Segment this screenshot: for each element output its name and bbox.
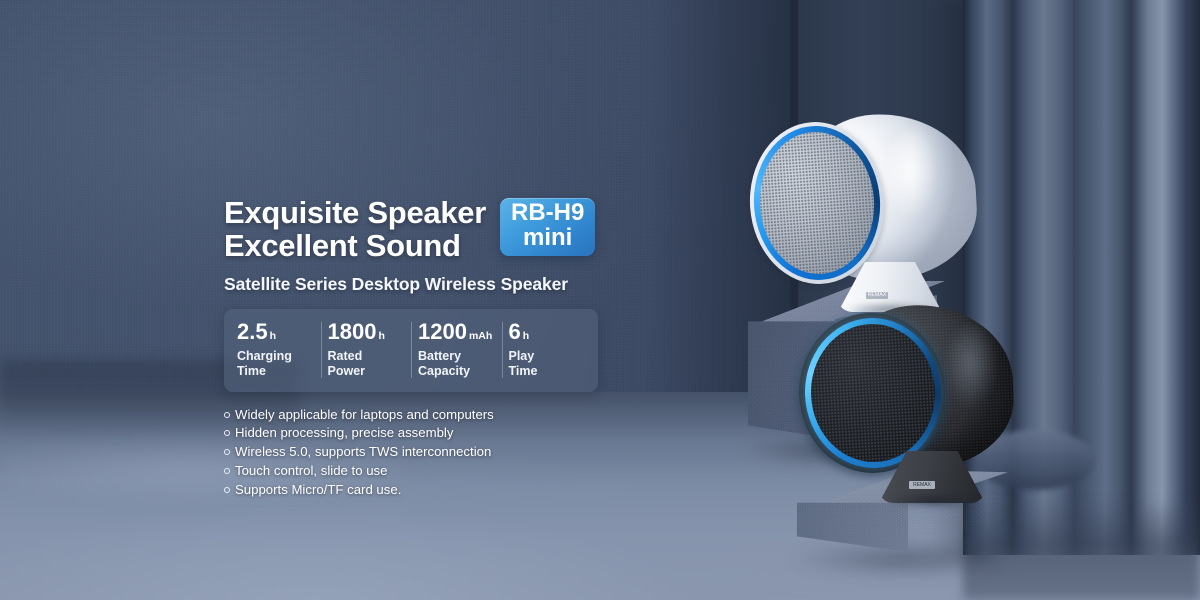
spec-label-line-2: Time (237, 364, 314, 379)
marketing-copy-block: Exquisite Speaker Excellent Sound RB-H9 … (224, 196, 644, 499)
spec-label-line-1: Battery (418, 349, 495, 364)
spec-value: 1800h (328, 320, 405, 344)
spec-number: 1200 (418, 319, 467, 344)
circle-bullet-icon (224, 449, 230, 455)
feature-text: Widely applicable for laptops and comput… (235, 406, 494, 425)
white-speaker-highlight (882, 128, 952, 248)
spec-number: 1800 (328, 319, 377, 344)
circle-bullet-icon (224, 487, 230, 493)
spec-label: Rated Power (328, 349, 405, 380)
spec-unit: h (378, 330, 384, 342)
feature-text: Touch control, slide to use (235, 462, 387, 481)
black-speaker-highlight (941, 323, 1007, 439)
list-item: Supports Micro/TF card use. (224, 481, 644, 500)
white-speaker-brand-logo: REMAX (866, 292, 888, 299)
feature-text: Hidden processing, precise assembly (235, 424, 453, 443)
list-item: Touch control, slide to use (224, 462, 644, 481)
headline-group: Exquisite Speaker Excellent Sound RB-H9 … (224, 196, 644, 263)
circle-bullet-icon (224, 430, 230, 436)
headline-line-2: Excellent Sound (224, 229, 486, 262)
spec-label-line-2: Power (328, 364, 405, 379)
list-item: Widely applicable for laptops and comput… (224, 406, 644, 425)
spec-label: Battery Capacity (418, 349, 495, 380)
headline: Exquisite Speaker Excellent Sound (224, 196, 486, 263)
spec-label-line-2: Capacity (418, 364, 495, 379)
white-speaker-grille (755, 128, 879, 278)
model-badge: RB-H9 mini (500, 198, 595, 256)
feature-list: Widely applicable for laptops and comput… (224, 406, 644, 500)
spec-label: Play Time (509, 349, 586, 380)
spec-unit: h (270, 330, 276, 342)
spec-value: 6h (509, 320, 586, 344)
spec-item-battery-capacity: 1200mAh Battery Capacity (411, 320, 502, 380)
spec-unit: mAh (469, 330, 492, 342)
list-item: Wireless 5.0, supports TWS interconnecti… (224, 443, 644, 462)
circle-bullet-icon (224, 412, 230, 418)
spec-label-line-1: Charging (237, 349, 314, 364)
model-badge-line-1: RB-H9 (511, 201, 584, 226)
black-speaker-grille (807, 321, 938, 465)
black-speaker-brand-logo: REMAX (909, 481, 935, 489)
spec-item-play-time: 6h Play Time (502, 320, 593, 380)
feature-text: Wireless 5.0, supports TWS interconnecti… (235, 443, 491, 462)
white-speaker: REMAX (742, 112, 972, 302)
black-speaker-contact-shadow (867, 491, 999, 511)
spec-number: 6 (509, 319, 521, 344)
spec-number: 2.5 (237, 319, 268, 344)
subtitle: Satellite Series Desktop Wireless Speake… (224, 274, 644, 295)
spec-label-line-1: Play (509, 349, 586, 364)
spec-value: 1200mAh (418, 320, 495, 344)
feature-text: Supports Micro/TF card use. (235, 481, 401, 500)
spec-value: 2.5h (237, 320, 314, 344)
spec-unit: h (523, 330, 529, 342)
spec-panel: 2.5h Charging Time 1800h Rated Power 120 (224, 309, 598, 392)
white-speaker-mesh-texture (755, 128, 879, 278)
product-banner: REMAX REMAX Exquisite Speaker Excellent … (0, 0, 1200, 600)
headline-line-1: Exquisite Speaker (224, 196, 486, 229)
spec-label-line-1: Rated (328, 349, 405, 364)
spec-label-line-2: Time (509, 364, 586, 379)
black-speaker: REMAX (795, 305, 1015, 505)
spec-item-charging-time: 2.5h Charging Time (230, 320, 321, 380)
spec-label: Charging Time (237, 349, 314, 380)
model-badge-line-2: mini (511, 226, 584, 251)
black-speaker-mesh-texture (807, 321, 938, 465)
list-item: Hidden processing, precise assembly (224, 424, 644, 443)
spec-item-rated-power: 1800h Rated Power (321, 320, 412, 380)
circle-bullet-icon (224, 468, 230, 474)
